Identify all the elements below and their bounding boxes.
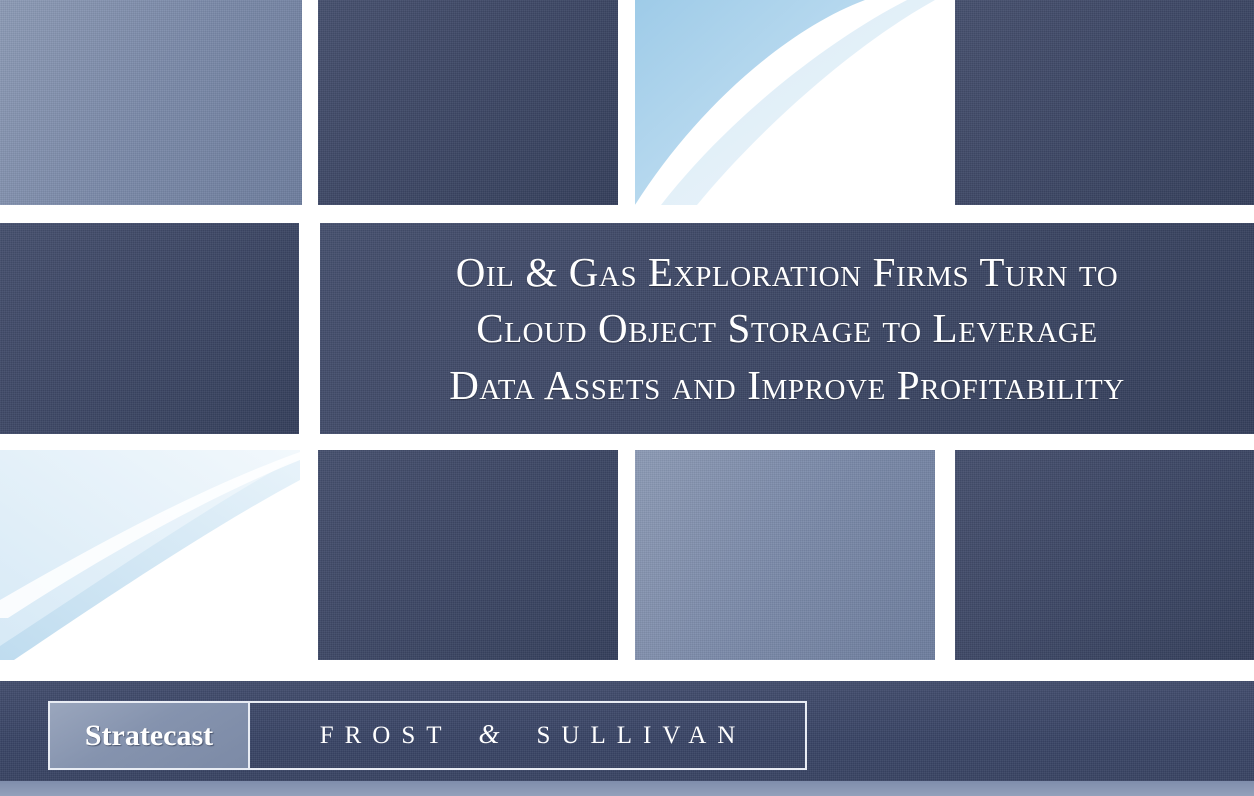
decorative-tile-bottom-swoosh [0,450,300,660]
stratecast-wordmark: Stratecast [85,719,213,753]
decorative-tile-top-mid-dark [318,0,618,205]
title-banner: Oil & Gas Exploration Firms Turn to Clou… [320,223,1254,434]
page-title-line-1: Oil & Gas Exploration Firms Turn to [449,244,1125,301]
frost-sullivan-logo: FROST & SULLIVAN [250,703,805,768]
report-cover: Oil & Gas Exploration Firms Turn to Clou… [0,0,1254,796]
decorative-tile-mid-left-dark [0,223,299,434]
page-title-line-2: Cloud Object Storage to Leverage [449,300,1125,357]
decorative-tile-top-left-light [0,0,302,205]
decorative-tile-bottom-right-dark [955,450,1254,660]
frost-wordmark: FROST [309,722,453,750]
brand-logo-bar: Stratecast FROST & SULLIVAN [48,701,807,770]
page-title-line-3: Data Assets and Improve Profitability [449,357,1125,414]
decorative-tile-bottom-mid-dark [318,450,618,660]
decorative-tile-top-right-dark [955,0,1254,205]
stratecast-logo-box: Stratecast [50,703,250,768]
sullivan-wordmark: SULLIVAN [526,722,747,750]
decorative-tile-top-swoosh [635,0,935,205]
footer-bottom-strip [0,781,1254,796]
page-title: Oil & Gas Exploration Firms Turn to Clou… [425,244,1149,414]
decorative-tile-bottom-light [635,450,935,660]
ampersand-ornament-icon: & [479,719,500,750]
